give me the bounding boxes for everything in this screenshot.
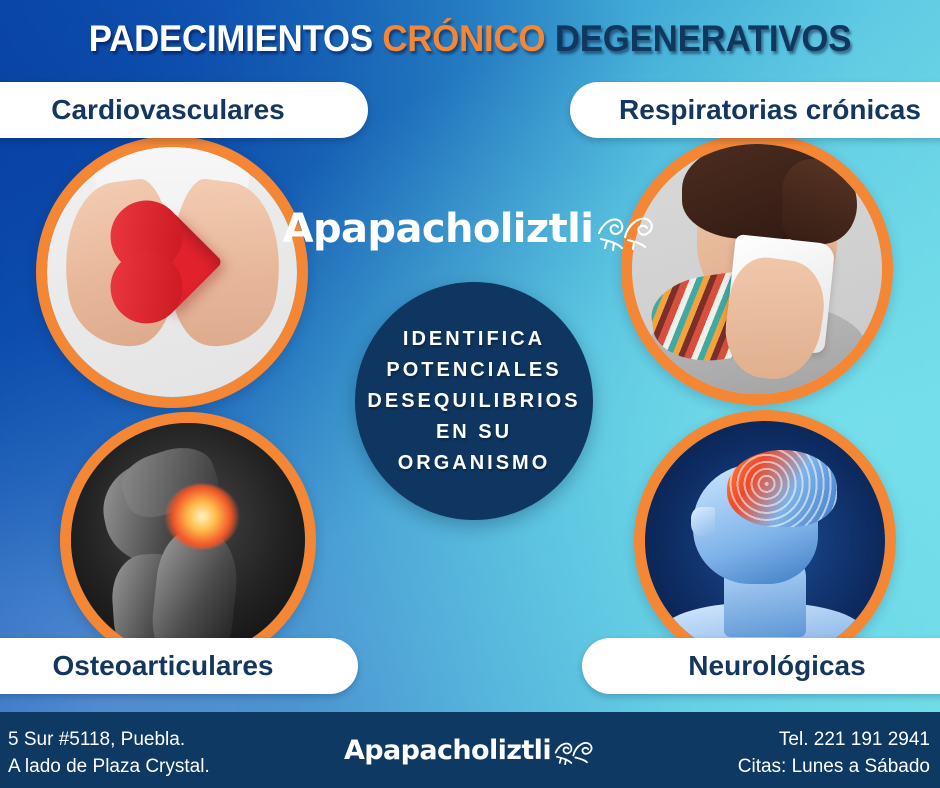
badge-line-5: ORGANISMO (398, 448, 551, 479)
head-brain-image (645, 421, 885, 661)
label-pill-neurological-text: Neurológicas (688, 650, 865, 682)
page-title: PADECIMIENTOS CRÓNICO DEGENERATIVOS (28, 14, 912, 64)
knee-pain-image (71, 423, 305, 657)
label-pill-respiratory[interactable]: Respiratorias crónicas (570, 82, 940, 138)
brain-highlight-shape (727, 450, 837, 527)
footer-phone[interactable]: Tel. 221 191 2941 (738, 726, 930, 753)
footer-bar: 5 Sur #5118, Puebla. A lado de Plaza Cry… (0, 712, 940, 788)
poster-canvas: PADECIMIENTOS CRÓNICO DEGENERATIVOS (0, 0, 940, 788)
person-blowing-nose-image (632, 144, 882, 394)
footer-contact: Tel. 221 191 2941 Citas: Lunes a Sábado (738, 726, 930, 780)
center-message-badge: IDENTIFICA POTENCIALES DESEQUILIBRIOS EN… (355, 282, 593, 520)
footer-brand-text: Apapacholiztli (344, 735, 551, 766)
badge-line-1: IDENTIFICA (403, 324, 545, 355)
brand-logo: Apapacholiztli (0, 206, 940, 252)
flourish-ornament-icon (595, 207, 657, 251)
photo-circle-respiratory (621, 133, 893, 405)
nose-shape (691, 507, 715, 536)
photo-circle-cardiovascular (36, 136, 308, 408)
label-pill-osteoarticular[interactable]: Osteoarticulares (0, 638, 358, 694)
footer-hours: Citas: Lunes a Sábado (738, 753, 930, 780)
label-pill-cardiovascular-text: Cardiovasculares (51, 94, 284, 126)
badge-line-4: EN SU (436, 417, 512, 448)
title-part-degenerativos: DEGENERATIVOS (555, 14, 851, 64)
photo-circle-neurological (634, 410, 896, 672)
label-pill-osteoarticular-text: Osteoarticulares (53, 650, 274, 682)
badge-line-2: POTENCIALES (386, 355, 561, 386)
footer-flourish-ornament-icon (552, 735, 596, 765)
badge-line-3: DESEQUILIBRIOS (367, 386, 580, 417)
heart-in-hands-image (47, 147, 297, 397)
label-pill-neurological[interactable]: Neurológicas (582, 638, 940, 694)
label-pill-cardiovascular[interactable]: Cardiovasculares (0, 82, 368, 138)
brand-logo-text: Apapacholiztli (283, 206, 594, 252)
label-pill-respiratory-text: Respiratorias crónicas (619, 94, 921, 126)
photo-circle-osteoarticular (60, 412, 316, 668)
pain-glow-icon (165, 484, 240, 550)
title-part-padecimientos: PADECIMIENTOS (89, 14, 373, 64)
title-part-cronico: CRÓNICO (382, 14, 545, 64)
